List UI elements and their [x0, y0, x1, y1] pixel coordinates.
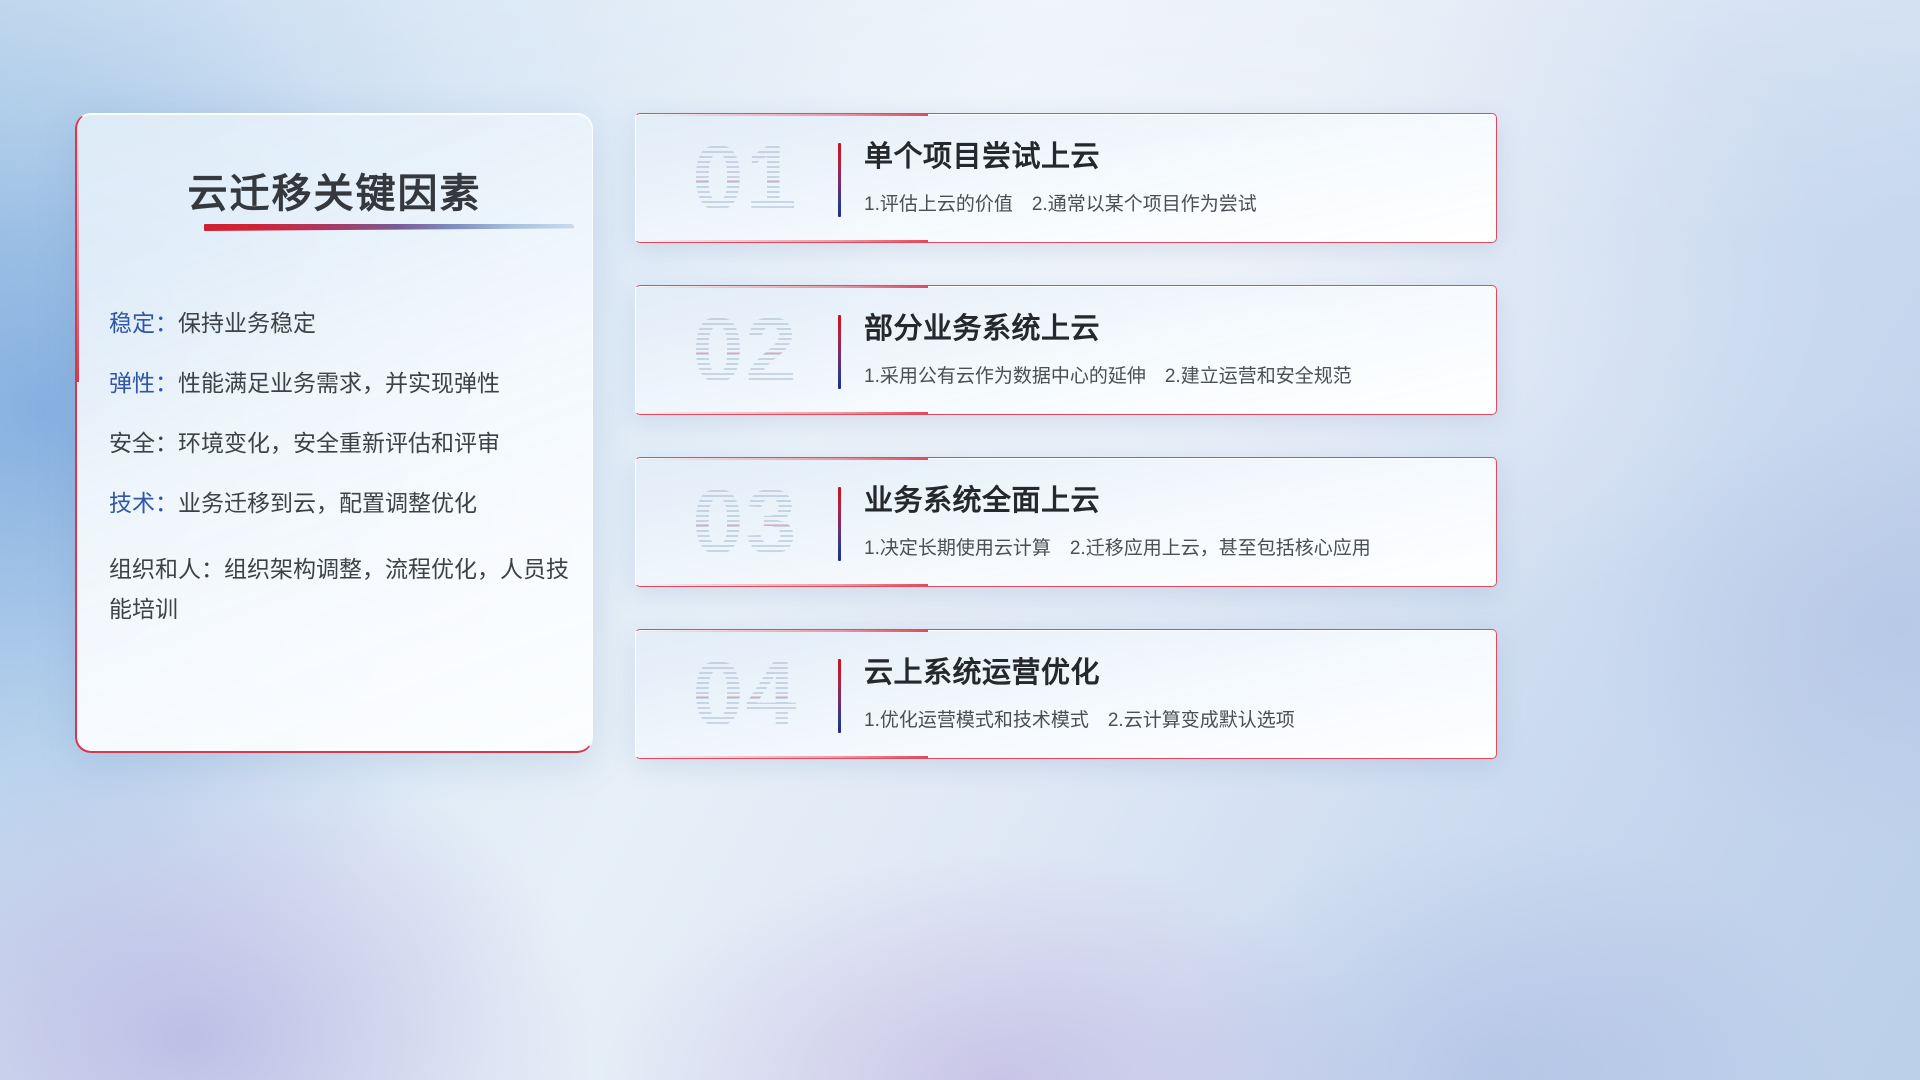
key-factors-list: 稳定：保持业务稳定 弹性：性能满足业务需求，并实现弹性 安全：环境变化，安全重新…: [109, 309, 570, 659]
stage-card[interactable]: 03 03 业务系统全面上云 1.决定长期使用云计算 2.迁移应用上云，甚至包括…: [635, 457, 1497, 587]
stage-number-ghost-tint: 04: [658, 642, 833, 746]
stage-number-ghost-tint: 02: [658, 298, 833, 402]
stage-number-ghost-tint: 03: [658, 470, 833, 574]
stage-content: 业务系统全面上云 1.决定长期使用云计算 2.迁移应用上云，甚至包括核心应用: [864, 484, 1470, 561]
stage-description: 1.优化运营模式和技术模式 2.云计算变成默认选项: [864, 708, 1470, 734]
stage-number-ghost: 04: [658, 642, 833, 746]
stage-title: 部分业务系统上云: [864, 312, 1470, 347]
title-underline-rule: [204, 224, 574, 231]
stage-title: 云上系统运营优化: [864, 656, 1470, 691]
key-factors-panel: 云迁移关键因素 稳定：保持业务稳定 弹性：性能满足业务需求，并实现弹性 安全：环…: [75, 113, 593, 753]
list-item: 技术：业务迁移到云，配置调整优化: [109, 489, 570, 519]
stage-number-ghost: 02: [658, 298, 833, 402]
stage-number-ghost-tint: 01: [658, 126, 833, 230]
list-item: 稳定：保持业务稳定: [109, 309, 570, 339]
stage-description: 1.采用公有云作为数据中心的延伸 2.建立运营和安全规范: [864, 364, 1470, 390]
factor-label: 安全：: [109, 430, 178, 456]
page-title: 云迁移关键因素: [77, 161, 592, 219]
stage-card[interactable]: 02 02 部分业务系统上云 1.采用公有云作为数据中心的延伸 2.建立运营和安…: [635, 285, 1497, 415]
stage-content: 部分业务系统上云 1.采用公有云作为数据中心的延伸 2.建立运营和安全规范: [864, 312, 1470, 389]
list-item: 安全：环境变化，安全重新评估和评审: [109, 429, 570, 459]
factor-body: 性能满足业务需求，并实现弹性: [178, 370, 500, 396]
stage-title: 单个项目尝试上云: [864, 140, 1470, 175]
factor-label: 弹性：: [109, 370, 178, 396]
stage-number-ghost: 01: [658, 126, 833, 230]
stage-title: 业务系统全面上云: [864, 484, 1470, 519]
stage-content: 单个项目尝试上云 1.评估上云的价值 2.通常以某个项目作为尝试: [864, 140, 1470, 217]
factor-body: 环境变化，安全重新评估和评审: [178, 430, 500, 456]
factor-label: 技术：: [109, 490, 178, 516]
stage-number-ghost: 03: [658, 470, 833, 574]
factor-label: 稳定：: [109, 310, 178, 336]
factor-body: 保持业务稳定: [178, 310, 316, 336]
stage-description: 1.决定长期使用云计算 2.迁移应用上云，甚至包括核心应用: [864, 536, 1470, 562]
stage-description: 1.评估上云的价值 2.通常以某个项目作为尝试: [864, 192, 1470, 218]
stage-accent-bar: [838, 487, 841, 561]
adoption-stages-list: 01 01 单个项目尝试上云 1.评估上云的价值 2.通常以某个项目作为尝试 0…: [635, 113, 1497, 759]
stage-card[interactable]: 01 01 单个项目尝试上云 1.评估上云的价值 2.通常以某个项目作为尝试: [635, 113, 1497, 243]
stage-accent-bar: [838, 659, 841, 733]
stage-content: 云上系统运营优化 1.优化运营模式和技术模式 2.云计算变成默认选项: [864, 656, 1470, 733]
list-item: 组织和人：组织架构调整，流程优化，人员技能培训: [109, 549, 570, 630]
factor-body: 业务迁移到云，配置调整优化: [178, 490, 477, 516]
stage-accent-bar: [838, 143, 841, 217]
factor-label: 组织和人：: [109, 556, 224, 582]
list-item: 弹性：性能满足业务需求，并实现弹性: [109, 369, 570, 399]
stage-accent-bar: [838, 315, 841, 389]
stage-card[interactable]: 04 04 云上系统运营优化 1.优化运营模式和技术模式 2.云计算变成默认选项: [635, 629, 1497, 759]
